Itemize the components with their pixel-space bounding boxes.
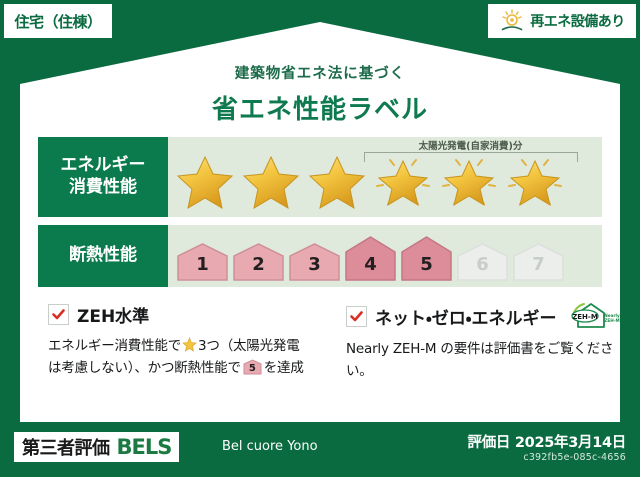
- energy-performance-label: 住宅（住棟） 再エネ設備あり ハウス 建築物省エネ法に基づく 省: [0, 0, 640, 477]
- criteria-nze-body: Nearly ZEH-M の要件は評価書をご覧ください。: [346, 339, 638, 383]
- insulation-performance-row: 断熱性能 1 2: [38, 225, 602, 287]
- criteria-zeh-standard: ZEH水準 エネルギー消費性能で3つ（太陽光発電は考慮しない）、かつ断熱性能で5…: [48, 302, 334, 380]
- heading-subtitle: 建築物省エネ法に基づく: [20, 62, 620, 83]
- energy-performance-label: エネルギー 消費性能: [38, 137, 168, 217]
- badge-renewable-label: 再エネ設備あり: [530, 11, 625, 31]
- criteria-zeh-header: ZEH水準: [48, 302, 334, 327]
- criteria-nze-header: ネット・ゼロ・エネルギー ZEH-M Nearly ZEH-M: [346, 302, 638, 330]
- insulation-level-6-number: 6: [456, 254, 509, 275]
- label-footer: 第三者評価 BELS Bel cuore Yono 評価日 2025年3月14日…: [0, 424, 640, 477]
- insulation-performance-label: 断熱性能: [38, 225, 168, 287]
- star-filled-1: [174, 152, 236, 212]
- criteria-zeh-body: エネルギー消費性能で3つ（太陽光発電は考慮しない）、かつ断熱性能で5を達成: [48, 336, 334, 380]
- badge-house-type: 住宅（住棟）: [4, 4, 112, 38]
- label-content-card: ハウス 建築物省エネ法に基づく 省エネ性能ラベル エネルギー 消費性能 太陽光発…: [20, 22, 620, 422]
- criteria-zeh-text-3: は考慮しない）、かつ断熱性能で: [48, 360, 241, 376]
- inline-house-icon: 5: [243, 359, 262, 375]
- third-party-eval-label: 第三者評価: [22, 434, 110, 460]
- star-filled-2: [240, 152, 302, 212]
- zeh-checkbox[interactable]: [48, 304, 69, 325]
- energy-label-line2: 消費性能: [69, 177, 137, 199]
- net-zero-checkbox[interactable]: [346, 306, 367, 327]
- insulation-level-2-number: 2: [232, 254, 285, 275]
- inline-house-number: 5: [243, 361, 262, 377]
- inline-star-icon: [182, 337, 197, 352]
- sun-icon: [499, 8, 525, 34]
- insulation-level-2: 2: [232, 242, 285, 282]
- insulation-level-3: 3: [288, 242, 341, 282]
- energy-label-line1: エネルギー: [61, 155, 146, 177]
- check-icon: [349, 309, 364, 324]
- insulation-level-7-number: 7: [512, 254, 565, 275]
- insulation-level-7: 7: [512, 242, 565, 282]
- bels-logo: BELS: [117, 435, 172, 459]
- insulation-level-strip: 1 2 3: [176, 225, 596, 287]
- evaluation-id: c392fb5e-085c-4656: [523, 452, 626, 463]
- insulation-level-4-number: 4: [344, 254, 397, 275]
- star-solar-1: [372, 152, 434, 212]
- star-filled-3: [306, 152, 368, 212]
- insulation-level-5: 5: [400, 235, 453, 282]
- star-solar-3: [504, 152, 566, 212]
- insulation-level-1-number: 1: [176, 254, 229, 275]
- insulation-level-3-number: 3: [288, 254, 341, 275]
- evaluation-date: 評価日 2025年3月14日: [468, 431, 626, 452]
- insulation-level-1: 1: [176, 242, 229, 282]
- building-name: Bel cuore Yono: [222, 439, 318, 454]
- svg-text:ZEH-M: ZEH-M: [572, 313, 598, 321]
- badge-house-type-label: 住宅（住棟）: [14, 11, 101, 32]
- star-rating-strip: [168, 150, 598, 214]
- heading-title: 省エネ性能ラベル: [20, 89, 620, 126]
- check-icon: [51, 307, 66, 322]
- energy-rating-area: 太陽光発電(自家消費)分: [168, 137, 602, 217]
- criteria-zeh-text-2: 3つ（太陽光発電: [198, 338, 300, 354]
- insulation-label-text: 断熱性能: [69, 245, 137, 267]
- insulation-rating-area: 1 2 3: [168, 225, 602, 287]
- criteria-nze-title: ネット・ゼロ・エネルギー: [375, 304, 557, 329]
- criteria-zeh-text-4: を達成: [264, 360, 304, 376]
- insulation-level-4: 4: [344, 235, 397, 282]
- bels-badge: 第三者評価 BELS: [14, 432, 179, 462]
- criteria-zeh-title: ZEH水準: [77, 302, 149, 327]
- svg-text:ZEH-M: ZEH-M: [604, 318, 619, 323]
- star-solar-2: [438, 152, 500, 212]
- label-heading: 建築物省エネ法に基づく 省エネ性能ラベル: [20, 62, 620, 126]
- criteria-net-zero-energy: ネット・ゼロ・エネルギー ZEH-M Nearly ZEH-M Nearly Z…: [346, 302, 638, 383]
- insulation-level-5-number: 5: [400, 254, 453, 275]
- criteria-zeh-text-1: エネルギー消費性能で: [48, 338, 181, 354]
- badge-renewable-equipment: 再エネ設備あり: [488, 4, 636, 38]
- zeh-m-logo-icon: ZEH-M Nearly ZEH-M: [567, 302, 621, 330]
- insulation-level-6: 6: [456, 242, 509, 282]
- energy-performance-row: エネルギー 消費性能 太陽光発電(自家消費)分: [38, 137, 602, 217]
